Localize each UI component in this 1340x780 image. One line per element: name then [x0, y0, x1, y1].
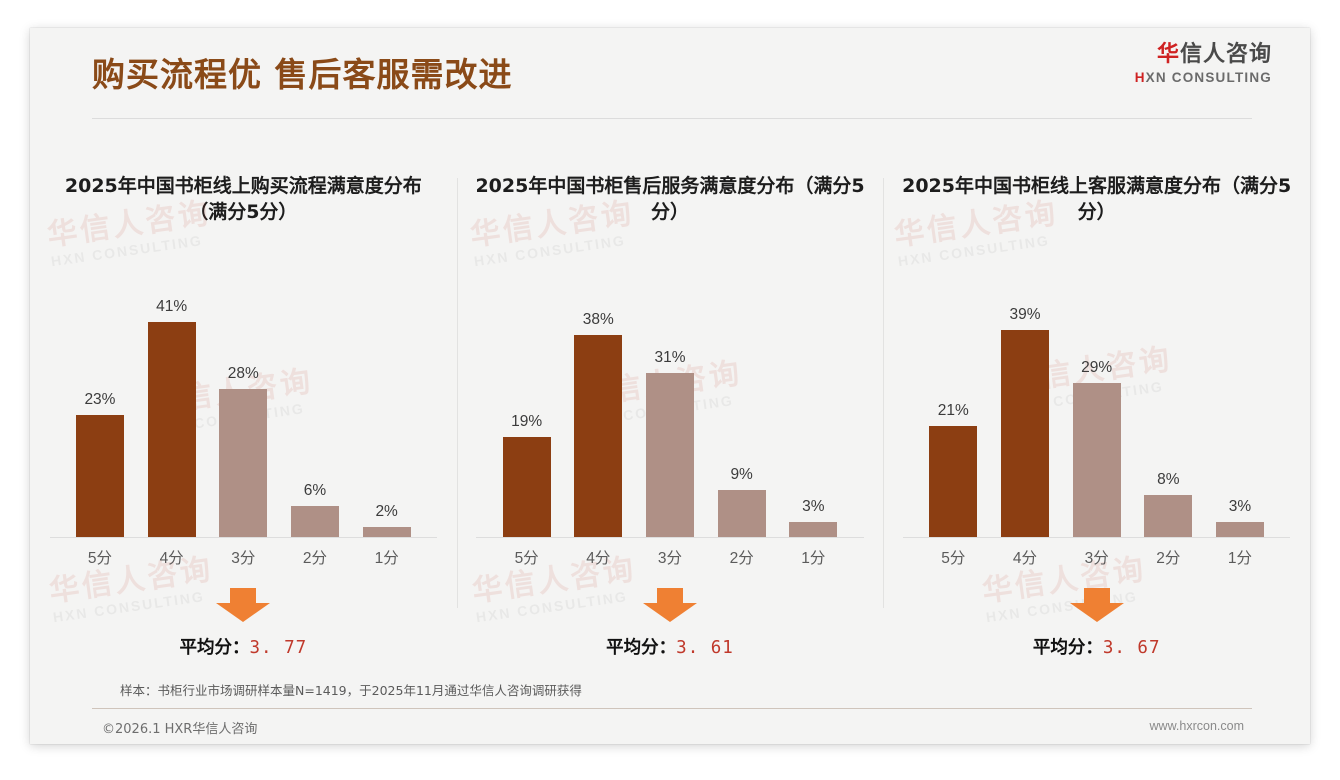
- chart-title: 2025年中国书柜线上购买流程满意度分布（满分5分）: [47, 174, 440, 225]
- watermark-english: HXN CONSULTING: [52, 587, 217, 624]
- bar-item: 2%: [351, 298, 423, 538]
- sample-footnote: 样本：书柜行业市场调研样本量N=1419，于2025年11月通过华信人咨询调研获…: [120, 680, 582, 699]
- x-tick-label: 2分: [706, 546, 778, 568]
- bar-value-label: 2%: [375, 503, 397, 521]
- x-axis-line: [50, 537, 437, 538]
- x-tick-label: 5分: [917, 546, 989, 568]
- bar-item: 6%: [279, 298, 351, 538]
- x-tick-label: 3分: [207, 546, 279, 568]
- bar[interactable]: [929, 426, 977, 538]
- bar-plot: 23% 41% 28% 6% 2%: [64, 298, 422, 538]
- bar-value-label: 21%: [938, 402, 969, 420]
- company-logo: 华信人咨询 HXN CONSULTING: [1135, 44, 1272, 85]
- x-tick-label: 1分: [777, 546, 849, 568]
- down-arrow-icon: [643, 588, 697, 622]
- x-tick-label: 4分: [989, 546, 1061, 568]
- logo-chinese-text: 华信人咨询: [1135, 44, 1272, 66]
- x-axis-ticks: 5分 4分 3分 2分 1分: [917, 546, 1275, 568]
- bar[interactable]: [1216, 522, 1264, 538]
- footer-copyright: ©2026.1 HXR华信人咨询: [102, 718, 257, 737]
- header-divider: [92, 118, 1252, 119]
- bar-value-label: 8%: [1157, 471, 1179, 489]
- bar-item: 39%: [989, 298, 1061, 538]
- watermark-english: HXN CONSULTING: [473, 231, 638, 268]
- bar-value-label: 41%: [156, 298, 187, 316]
- watermark-english: HXN CONSULTING: [475, 587, 640, 624]
- bar[interactable]: [219, 389, 267, 538]
- watermark-english: HXN CONSULTING: [50, 231, 215, 268]
- x-tick-label: 5分: [491, 546, 563, 568]
- bar-group: 19% 38% 31% 9% 3%: [491, 298, 849, 538]
- x-tick-label: 5分: [64, 546, 136, 568]
- average-score: 平均分：3. 77: [30, 634, 457, 659]
- x-axis-line: [476, 537, 863, 538]
- down-arrow-icon: [1070, 588, 1124, 622]
- average-score-value: 3. 61: [676, 638, 734, 658]
- bar-item: 29%: [1061, 298, 1133, 538]
- arrow-head: [216, 603, 270, 622]
- bar-value-label: 23%: [84, 391, 115, 409]
- down-arrow-icon: [216, 588, 270, 622]
- x-tick-label: 1分: [1204, 546, 1276, 568]
- average-score-value: 3. 67: [1103, 638, 1161, 658]
- chart-panel-purchase-flow: 2025年中国书柜线上购买流程满意度分布（满分5分） 华信人咨询 HXN CON…: [30, 148, 457, 678]
- bar[interactable]: [148, 322, 196, 538]
- bar[interactable]: [718, 490, 766, 538]
- average-score: 平均分：3. 61: [457, 634, 884, 659]
- logo-chinese-rest: 信人咨询: [1180, 42, 1272, 67]
- x-axis-ticks: 5分 4分 3分 2分 1分: [491, 546, 849, 568]
- column-divider: [457, 178, 458, 608]
- bar[interactable]: [1001, 330, 1049, 538]
- arrow-head: [1070, 603, 1124, 622]
- average-score-label: 平均分：: [1033, 638, 1103, 658]
- bar-value-label: 31%: [654, 349, 685, 367]
- bar[interactable]: [76, 415, 124, 538]
- average-score: 平均分：3. 67: [883, 634, 1310, 659]
- chart-panel-online-service: 2025年中国书柜线上客服满意度分布（满分5分） 华信人咨询 HXN CONSU…: [883, 148, 1310, 678]
- logo-char-hua: 华: [1157, 42, 1180, 67]
- chart-panel-after-sales: 2025年中国书柜售后服务满意度分布（满分5分） 华信人咨询 HXN CONSU…: [457, 148, 884, 678]
- bar[interactable]: [789, 522, 837, 538]
- slide-header: 购买流程优 售后客服需改进 华信人咨询 HXN CONSULTING: [30, 28, 1310, 118]
- average-score-label: 平均分：: [606, 638, 676, 658]
- arrow-shaft: [1084, 588, 1110, 604]
- x-axis-ticks: 5分 4分 3分 2分 1分: [64, 546, 422, 568]
- bar-item: 38%: [562, 298, 634, 538]
- bar-group: 23% 41% 28% 6% 2%: [64, 298, 422, 538]
- bar-item: 19%: [491, 298, 563, 538]
- bar-item: 3%: [1204, 298, 1276, 538]
- chart-title: 2025年中国书柜线上客服满意度分布（满分5分）: [900, 174, 1293, 225]
- x-tick-label: 2分: [1132, 546, 1204, 568]
- footer-website[interactable]: www.hxrcon.com: [1150, 719, 1244, 733]
- bar-value-label: 9%: [730, 466, 752, 484]
- bar[interactable]: [646, 373, 694, 538]
- x-axis-line: [903, 537, 1290, 538]
- bar[interactable]: [1144, 495, 1192, 538]
- chart-title: 2025年中国书柜售后服务满意度分布（满分5分）: [474, 174, 867, 225]
- watermark-english: HXN CONSULTING: [897, 231, 1062, 268]
- arrow-shaft: [657, 588, 683, 604]
- bar-value-label: 38%: [583, 311, 614, 329]
- bar-value-label: 19%: [511, 413, 542, 431]
- bar-item: 8%: [1132, 298, 1204, 538]
- x-tick-label: 3分: [1061, 546, 1133, 568]
- bar-item: 28%: [207, 298, 279, 538]
- x-tick-label: 1分: [351, 546, 423, 568]
- bar-value-label: 3%: [802, 498, 824, 516]
- x-tick-label: 4分: [136, 546, 208, 568]
- slide-canvas: 购买流程优 售后客服需改进 华信人咨询 HXN CONSULTING 2025年…: [30, 28, 1310, 744]
- bar-item: 21%: [917, 298, 989, 538]
- bar-item: 23%: [64, 298, 136, 538]
- bar-group: 21% 39% 29% 8% 3%: [917, 298, 1275, 538]
- bar[interactable]: [574, 335, 622, 538]
- footer-divider: [92, 708, 1252, 709]
- bar-value-label: 39%: [1009, 306, 1040, 324]
- logo-english-rest: XN CONSULTING: [1146, 70, 1272, 85]
- page-title: 购买流程优 售后客服需改进: [92, 48, 513, 96]
- bar[interactable]: [503, 437, 551, 538]
- bar-value-label: 28%: [228, 365, 259, 383]
- bar-item: 41%: [136, 298, 208, 538]
- average-score-value: 3. 77: [249, 638, 307, 658]
- x-tick-label: 2分: [279, 546, 351, 568]
- average-score-label: 平均分：: [179, 638, 249, 658]
- x-tick-label: 3分: [634, 546, 706, 568]
- bar-value-label: 29%: [1081, 359, 1112, 377]
- logo-english-text: HXN CONSULTING: [1135, 71, 1272, 85]
- logo-char-h: H: [1135, 70, 1146, 85]
- column-divider: [883, 178, 884, 608]
- bar-value-label: 6%: [304, 482, 326, 500]
- arrow-head: [643, 603, 697, 622]
- bar-item: 31%: [634, 298, 706, 538]
- bar[interactable]: [291, 506, 339, 538]
- x-tick-label: 4分: [562, 546, 634, 568]
- watermark-english: HXN CONSULTING: [985, 587, 1150, 624]
- bar-item: 3%: [777, 298, 849, 538]
- charts-row: 2025年中国书柜线上购买流程满意度分布（满分5分） 华信人咨询 HXN CON…: [30, 148, 1310, 678]
- bar-value-label: 3%: [1229, 498, 1251, 516]
- bar-plot: 21% 39% 29% 8% 3%: [917, 298, 1275, 538]
- arrow-shaft: [230, 588, 256, 604]
- bar[interactable]: [1073, 383, 1121, 538]
- bar-plot: 19% 38% 31% 9% 3%: [491, 298, 849, 538]
- bar-item: 9%: [706, 298, 778, 538]
